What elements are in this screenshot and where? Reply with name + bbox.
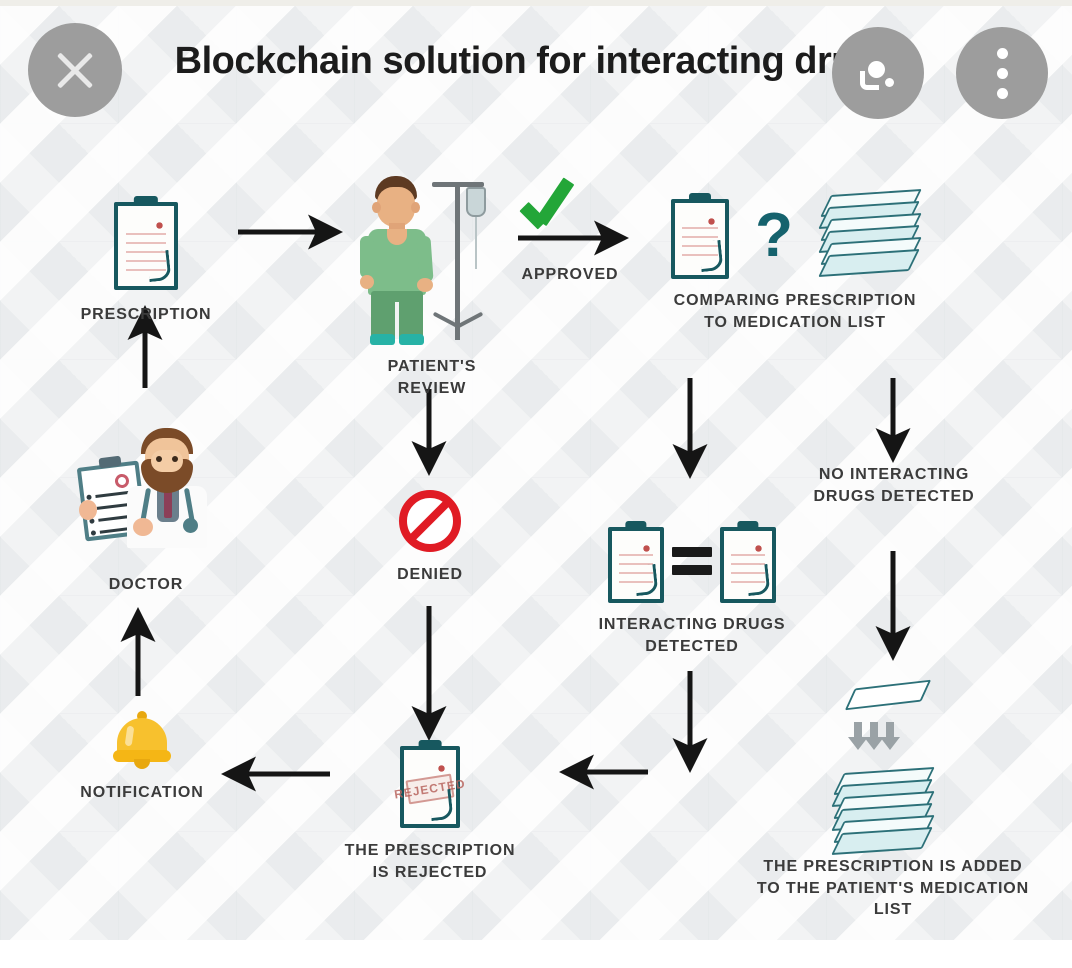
interacting-clipboard-right-icon <box>720 521 776 603</box>
close-button[interactable] <box>28 23 122 117</box>
interacting-clipboard-left-icon <box>608 521 664 603</box>
node-added-to-list[interactable]: THE PRESCRIPTION IS ADDED TO THE PATIENT… <box>712 674 1072 921</box>
comparing-clipboard-icon <box>671 193 729 279</box>
label-comparing: COMPARING PRESCRIPTION TO MEDICATION LIS… <box>640 290 950 333</box>
label-rejected: THE PRESCRIPTION IS REJECTED <box>345 840 516 883</box>
denied-icon <box>399 490 461 552</box>
prescription-clipboard-icon <box>114 196 178 290</box>
node-interacting-detected[interactable]: INTERACTING DRUGS DETECTED <box>574 518 810 657</box>
doctor-figure-icon <box>71 426 221 556</box>
node-comparing[interactable]: ? COMPARING PRESCRIPTION TO MEDICATION L… <box>640 188 950 333</box>
label-approved: APPROVED <box>500 264 640 286</box>
infographic-image[interactable]: Blockchain solution for interacting drug… <box>0 6 1072 940</box>
image-viewer: Blockchain solution for interacting drug… <box>0 0 1072 968</box>
label-doctor: DOCTOR <box>109 574 183 596</box>
label-patients-review: PATIENT'S REVIEW <box>352 356 512 399</box>
rejected-clipboard-icon: REJECTED <box>400 740 460 828</box>
node-patients-review[interactable]: PATIENT'S REVIEW <box>352 176 512 399</box>
node-prescription[interactable]: PRESCRIPTION <box>96 196 196 326</box>
more-options-button[interactable] <box>956 27 1048 119</box>
medication-list-stack-icon <box>819 190 919 282</box>
label-interacting-detected: INTERACTING DRUGS DETECTED <box>574 614 810 657</box>
iv-pole-icon <box>424 178 492 350</box>
equals-sign-icon <box>672 545 712 579</box>
approved-check-icon <box>520 174 584 230</box>
patient-nurse-iv-illustration <box>354 176 510 352</box>
google-lens-button[interactable] <box>832 27 924 119</box>
label-added-to-list: THE PRESCRIPTION IS ADDED TO THE PATIENT… <box>712 856 1072 921</box>
label-prescription: PRESCRIPTION <box>81 304 212 326</box>
add-to-stack-illustration <box>712 674 1072 860</box>
node-notification[interactable]: NOTIFICATION <box>76 708 208 804</box>
label-no-interacting: NO INTERACTING DRUGS DETECTED <box>778 464 1010 509</box>
label-notification: NOTIFICATION <box>80 782 203 804</box>
node-denied[interactable]: DENIED <box>368 490 492 586</box>
patient-medication-stack-icon <box>832 770 942 860</box>
node-doctor[interactable]: DOCTOR <box>56 426 236 596</box>
kebab-menu-icon <box>997 48 1008 99</box>
node-rejected[interactable]: REJECTED THE PRESCRIPTION IS REJECTED <box>330 740 530 883</box>
flying-paper-icon <box>845 680 931 711</box>
notification-bell-icon <box>111 708 173 770</box>
close-icon <box>52 47 98 93</box>
bottom-bar <box>0 940 1072 968</box>
lens-icon <box>854 49 902 97</box>
label-denied: DENIED <box>397 564 463 586</box>
question-mark-icon: ? <box>755 205 793 267</box>
